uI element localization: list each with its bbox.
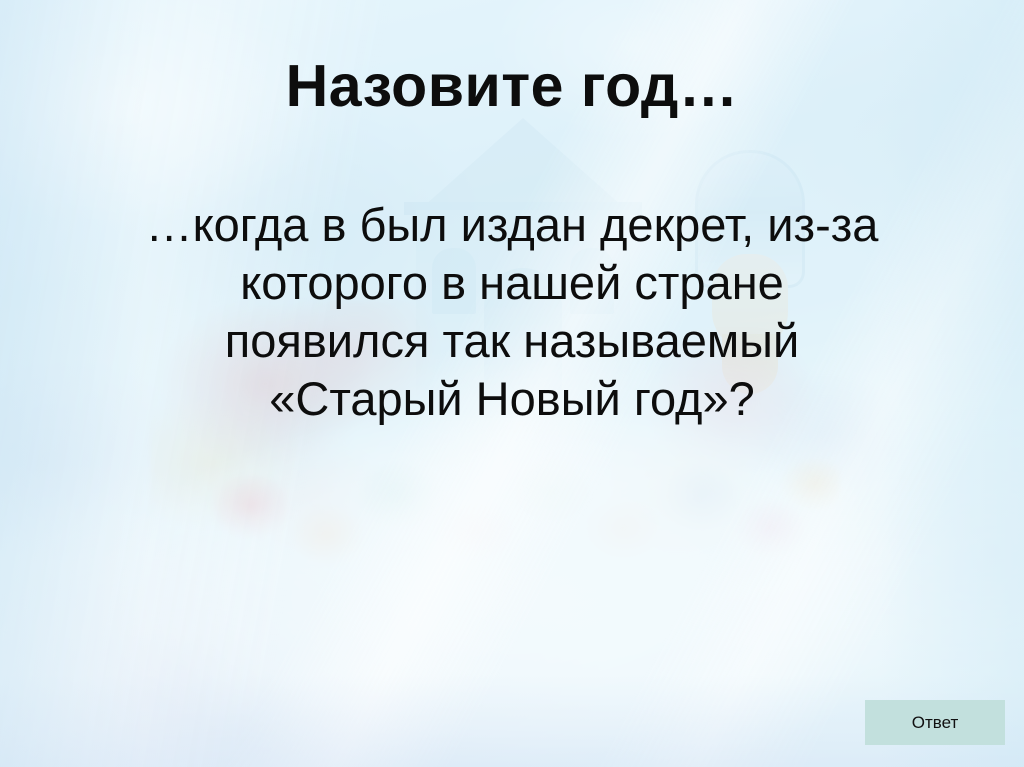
quiz-slide: Назовите год… …когда в был издан декрет,…: [0, 0, 1024, 767]
slide-content: Назовите год… …когда в был издан декрет,…: [0, 0, 1024, 767]
question-line: «Старый Новый год»?: [52, 370, 972, 428]
question-line: …когда в был издан декрет, из-за: [52, 196, 972, 254]
question-line: которого в нашей стране: [52, 254, 972, 312]
question-text: …когда в был издан декрет, из-за которог…: [52, 196, 972, 428]
answer-button[interactable]: Ответ: [865, 700, 1005, 745]
question-line: появился так называемый: [52, 312, 972, 370]
page-title: Назовите год…: [0, 56, 1024, 118]
